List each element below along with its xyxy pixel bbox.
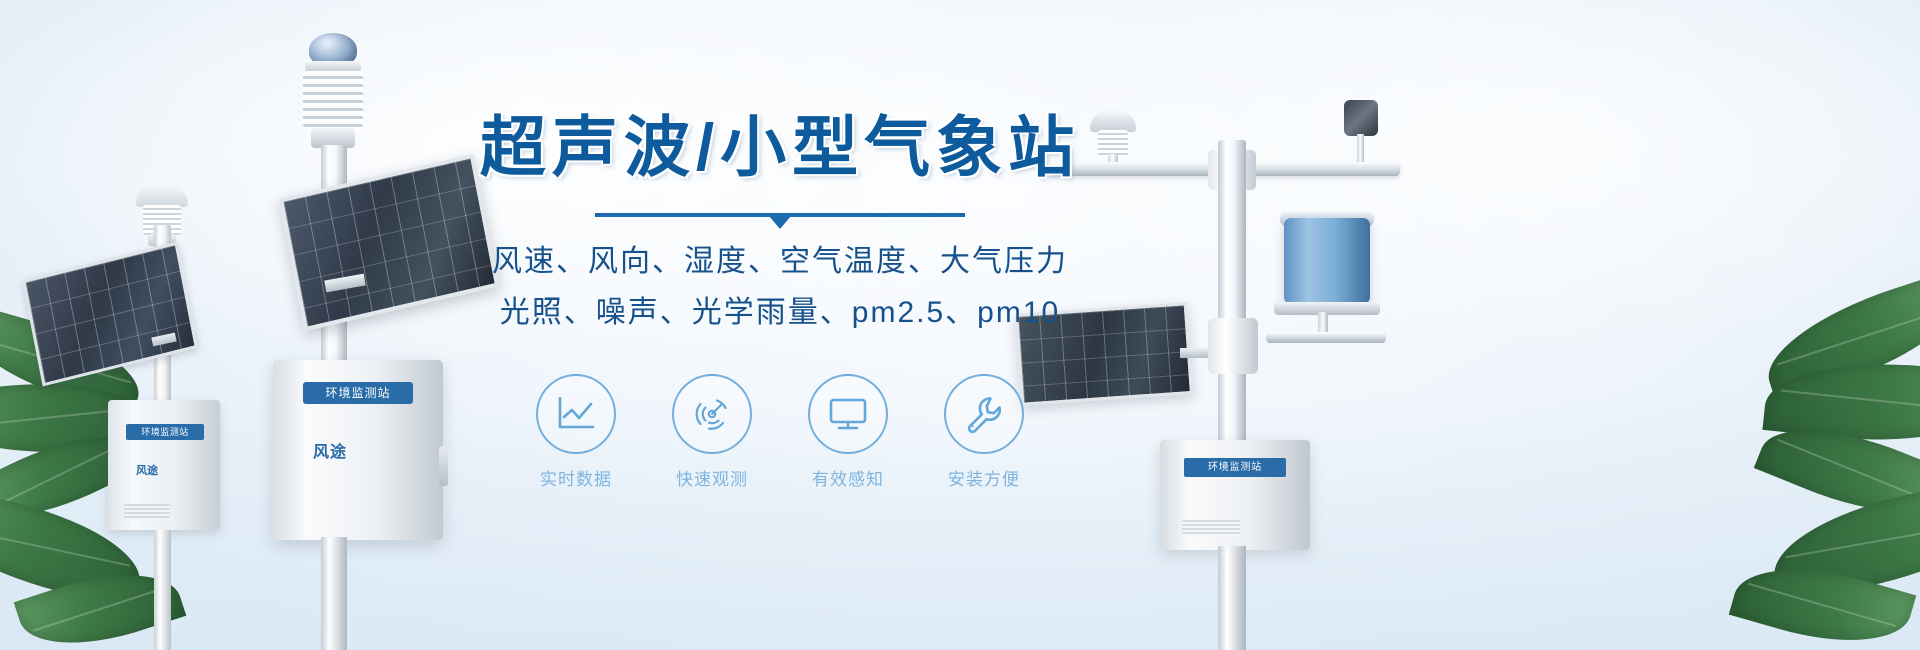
feature-icon-circle: [808, 374, 888, 454]
feature-item-effective-sensing: 有效感知: [804, 374, 892, 490]
radiation-shield: [303, 71, 363, 129]
product-banner: 环境监测站 风途 环境监测站 风途: [0, 0, 1920, 650]
control-cabinet: 环境监测站: [1160, 440, 1310, 550]
cabinet-label: 环境监测站: [126, 424, 204, 440]
feature-icon-circle: [536, 374, 616, 454]
feature-label: 快速观测: [668, 465, 756, 490]
radar-scan-icon: [691, 393, 733, 435]
brand-logo: 风途: [136, 462, 158, 478]
feature-item-easy-installation: 安装方便: [940, 374, 1028, 490]
feature-label: 实时数据: [532, 465, 620, 490]
banner-subtitle-line-1: 风速、风向、湿度、空气温度、大气压力: [430, 239, 1130, 286]
banner-content: 超声波/小型气象站 风速、风向、湿度、空气温度、大气压力 光照、噪声、光学雨量、…: [430, 0, 1130, 650]
feature-label: 安装方便: [940, 465, 1028, 490]
title-divider: [595, 213, 965, 217]
sensor-head: [136, 185, 188, 207]
mast-pole-lower: [1218, 546, 1246, 650]
wrench-icon: [963, 393, 1005, 435]
line-chart-icon: [555, 395, 597, 433]
feature-icon-circle: [672, 374, 752, 454]
equipment-shelf: [1266, 332, 1386, 343]
optical-rain-gauge: [1284, 218, 1370, 304]
cabinet-label: 环境监测站: [1184, 458, 1286, 477]
cabinet-vent: [124, 504, 170, 518]
wind-direction-vane: [1344, 100, 1378, 136]
weather-station-left-small: 环境监测站 风途: [96, 185, 246, 650]
cabinet-label: 环境监测站: [303, 382, 413, 404]
feature-icon-circle: [944, 374, 1024, 454]
banner-subtitle-line-2: 光照、噪声、光学雨量、pm2.5、pm10: [430, 290, 1130, 337]
control-cabinet: 环境监测站 风途: [273, 360, 443, 540]
solar-panel: [22, 242, 198, 387]
cabinet-vent: [1182, 520, 1240, 536]
monitor-screen-icon: [827, 395, 869, 433]
mast-clamp-lower: [1208, 318, 1258, 374]
feature-list: 实时数据 快: [430, 374, 1130, 490]
brand-logo: 风途: [313, 438, 347, 462]
feature-item-fast-observation: 快速观测: [668, 374, 756, 490]
divider-triangle-icon: [769, 216, 791, 229]
control-cabinet: 环境监测站 风途: [108, 400, 220, 530]
banner-title: 超声波/小型气象站: [430, 112, 1130, 183]
vane-post: [1357, 134, 1364, 164]
mast-pole-lower: [154, 530, 171, 650]
feature-label: 有效感知: [804, 465, 892, 490]
mast-pole-lower: [321, 537, 347, 650]
feature-item-realtime-data: 实时数据: [532, 374, 620, 490]
